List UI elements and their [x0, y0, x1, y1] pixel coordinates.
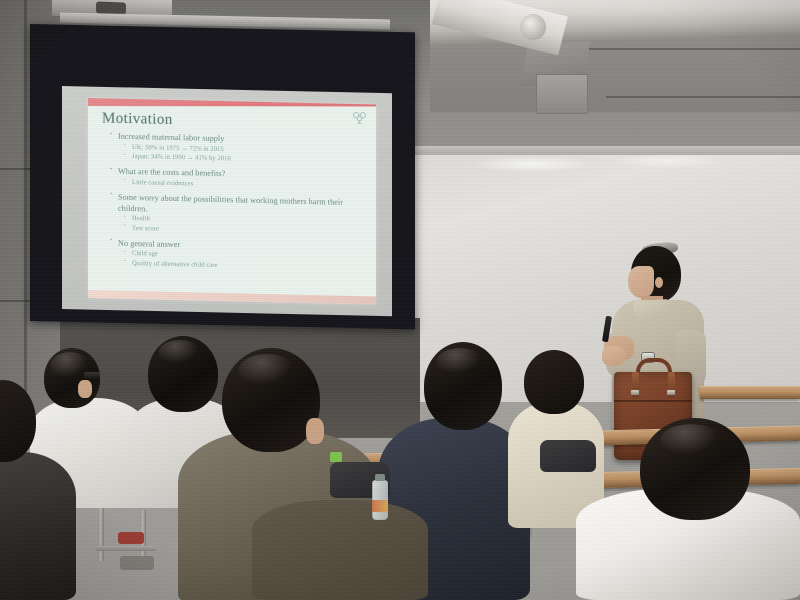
lecture-hall-photo: Motivation Increased maternal labor supp… — [0, 0, 800, 600]
desk — [700, 386, 800, 399]
eyeglasses — [84, 372, 100, 379]
briefcase-buckle — [667, 390, 675, 395]
university-crest-logo — [351, 109, 368, 125]
hair-highlight — [158, 340, 202, 366]
hair-highlight — [238, 354, 296, 388]
presenter-ear — [655, 277, 663, 288]
attendee-shirt — [252, 500, 428, 600]
bottle-label — [372, 500, 388, 512]
small-green-item — [330, 452, 342, 462]
presentation-slide: Motivation Increased maternal labor supp… — [88, 98, 376, 305]
hair-highlight — [660, 424, 722, 458]
attendee-ear — [306, 418, 324, 444]
hair-highlight — [436, 348, 484, 376]
desk-rail — [96, 546, 156, 551]
presenter-face — [628, 266, 654, 298]
attendee-head — [524, 350, 584, 414]
attendee-cheek — [78, 380, 92, 398]
slide-block: Some worry about the possibilities that … — [110, 192, 368, 238]
bag — [540, 440, 596, 472]
presenter-hand — [602, 346, 626, 366]
bottle-cap — [375, 474, 385, 481]
air-vent — [536, 74, 588, 114]
slide-block: Increased maternal labor supply UK: 50% … — [110, 131, 368, 166]
briefcase-buckle — [631, 390, 639, 395]
red-item-on-desk — [118, 532, 144, 544]
slide-body: Increased maternal labor supply UK: 50% … — [110, 131, 368, 279]
wall-column-edge — [24, 0, 27, 430]
attendee-shirt — [0, 452, 76, 600]
whiteboard-glare — [472, 156, 592, 172]
briefcase-seam — [614, 400, 692, 402]
slide-title: Motivation — [102, 110, 173, 129]
desk-leg — [98, 503, 104, 561]
slide-block: What are the costs and benefits? Little … — [110, 167, 368, 193]
whiteboard-glare — [612, 154, 722, 168]
ceiling-seam — [606, 96, 800, 98]
grey-item-on-desk — [120, 556, 154, 570]
beam-joint — [520, 14, 546, 40]
slide-block: No general answer Child age Quality of a… — [110, 238, 368, 273]
